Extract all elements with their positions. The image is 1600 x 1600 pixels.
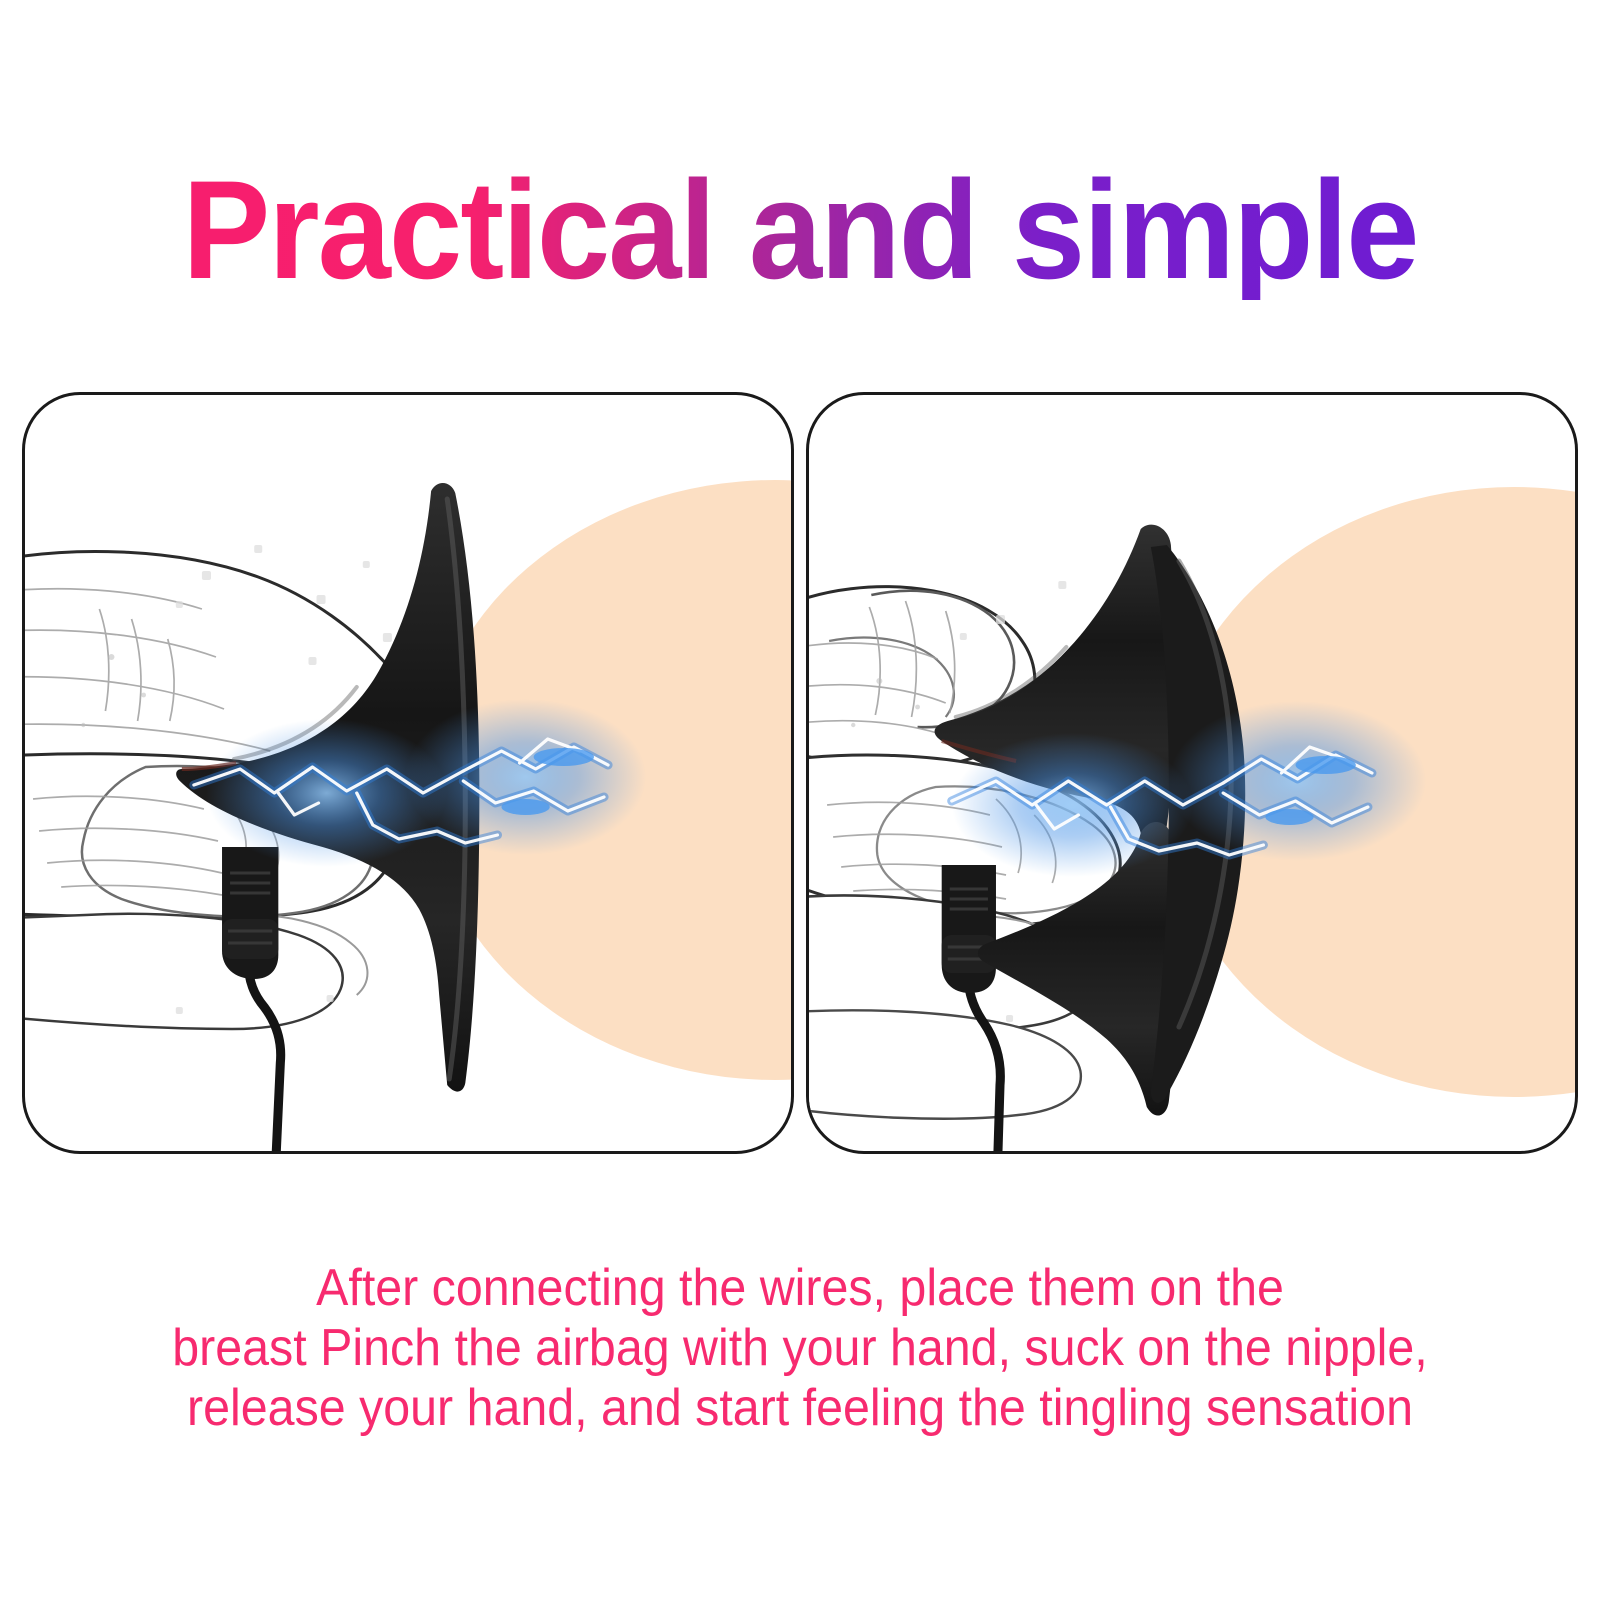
- page-title: Practical and simple: [48, 160, 1552, 300]
- panel-left-stage: [25, 395, 791, 1151]
- illustration-panels: [22, 392, 1578, 1154]
- illustration-panel-right: [806, 392, 1578, 1154]
- caption-line-1: After connecting the wires, place them o…: [56, 1258, 1544, 1318]
- infographic-page: Practical and simple: [0, 0, 1600, 1600]
- panel-right-stage: [809, 395, 1575, 1151]
- illustration-panel-left: [22, 392, 794, 1154]
- right-panel-artwork: [809, 395, 1575, 1151]
- caption-line-3: release your hand, and start feeling the…: [56, 1378, 1544, 1438]
- instruction-caption: After connecting the wires, place them o…: [56, 1258, 1544, 1438]
- left-panel-artwork: [25, 395, 791, 1151]
- caption-line-2: breast Pinch the airbag with your hand, …: [56, 1318, 1544, 1378]
